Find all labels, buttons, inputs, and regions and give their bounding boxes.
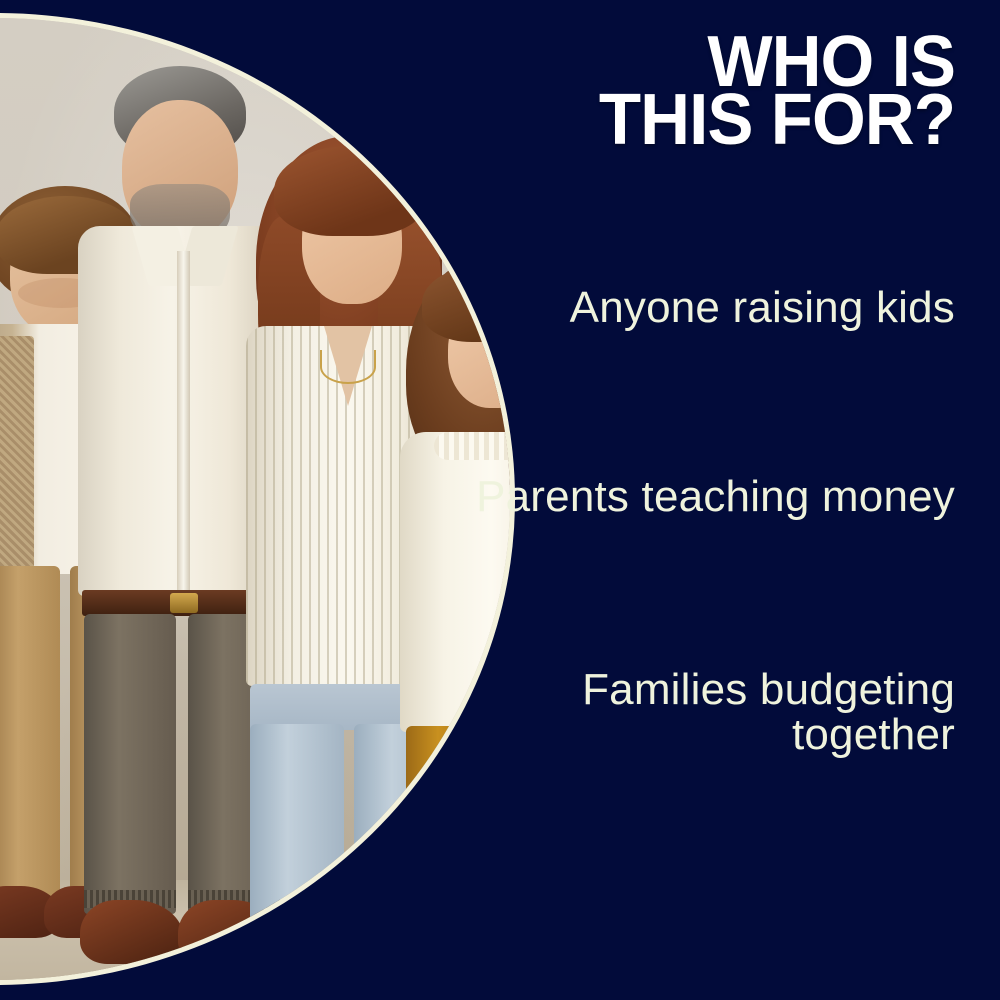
woman-hair-front	[274, 146, 426, 236]
bullet-item-1: Anyone raising kids	[455, 286, 955, 331]
bullet-item-2: Parents teaching money	[455, 475, 955, 520]
woman-cuff-right	[354, 968, 448, 980]
bullet-list: Anyone raising kids Parents teaching mon…	[455, 210, 955, 758]
man-leg-left	[84, 614, 176, 914]
woman-necklace	[320, 350, 376, 384]
content-panel: WHO IS THIS FOR? Anyone raising kids Par…	[440, 0, 1000, 1000]
bullet-item-3: Families budgeting together	[455, 668, 955, 758]
family-photo-ellipse	[0, 18, 510, 980]
man-belt-buckle	[170, 593, 198, 613]
boy-leg-left	[0, 566, 60, 896]
page-title: WHO IS THIS FOR?	[456, 34, 955, 149]
boy-cardigan-left	[0, 336, 34, 586]
headline-line-2: THIS FOR?	[456, 92, 955, 150]
slide-canvas: WHO IS THIS FOR? Anyone raising kids Par…	[0, 0, 1000, 1000]
man-shirt-placket	[177, 251, 190, 596]
woman-cuff-left	[250, 968, 344, 980]
woman-leg-left	[250, 724, 344, 980]
family-photo	[0, 18, 510, 980]
